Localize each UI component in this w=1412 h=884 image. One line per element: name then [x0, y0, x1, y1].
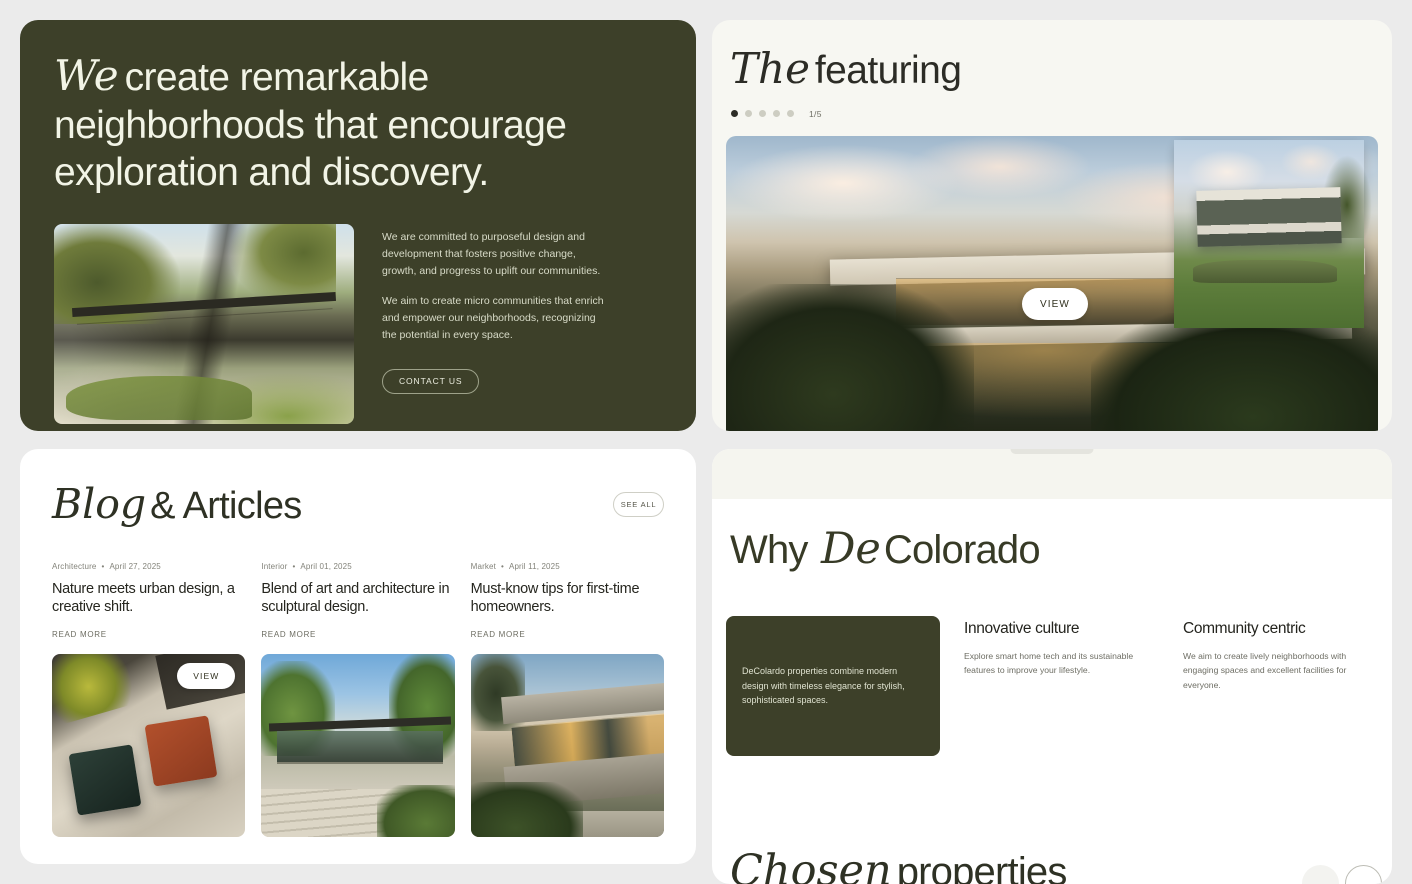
carousel-dot-5[interactable]: [787, 110, 794, 117]
hero-paragraph-2: We aim to create micro communities that …: [382, 293, 604, 344]
featured-panel: Thefeaturing 1/5 VIEW: [712, 20, 1392, 431]
why-heading-part-2: Colorado: [884, 528, 1040, 572]
blog-heading-rest: & Articles: [150, 485, 301, 527]
carousel-dot-2[interactable]: [745, 110, 752, 117]
why-heading-part-1: Why: [730, 528, 808, 572]
why-feature-innovative-culture: Innovative culture Explore smart home te…: [964, 616, 1159, 756]
carousel-dot-1[interactable]: [731, 110, 738, 117]
carousel-prev-button[interactable]: [1302, 865, 1339, 884]
carousel-next-button[interactable]: [1345, 865, 1382, 884]
why-heading-script: De: [818, 524, 884, 574]
why-feature-body: Explore smart home tech and its sustaina…: [964, 649, 1159, 678]
panel-drag-handle[interactable]: [1011, 449, 1094, 454]
list-item[interactable]: Architecture•April 27, 2025 Nature meets…: [52, 562, 245, 837]
blog-heading-script: Blog: [52, 480, 150, 528]
article-meta: Interior•April 01, 2025: [261, 562, 454, 571]
featured-heading: Thefeaturing: [712, 46, 1392, 93]
meta-separator: •: [287, 562, 300, 571]
hero-image: [54, 224, 354, 424]
carousel-dot-4[interactable]: [773, 110, 780, 117]
why-panel: Why DeColorado DeColardo properties comb…: [712, 449, 1392, 884]
article-image: VIEW: [52, 654, 245, 837]
carousel-pagination[interactable]: 1/5: [712, 93, 1392, 131]
carousel-nav[interactable]: [1302, 865, 1382, 884]
carousel-dot-3[interactable]: [759, 110, 766, 117]
panel-tint-strip: [712, 449, 1392, 499]
article-date: April 27, 2025: [109, 562, 160, 571]
hero-heading-rest: create remarkable neighborhoods that enc…: [54, 56, 566, 194]
why-feature-title: Community centric: [1183, 620, 1378, 638]
why-columns: DeColardo properties combine modern desi…: [726, 616, 1378, 756]
hero-body: We are committed to purposeful design an…: [54, 224, 662, 424]
chosen-properties-heading: Chosenproperties: [730, 846, 1067, 884]
meta-separator: •: [496, 562, 509, 571]
article-image: [471, 654, 664, 837]
why-promo-card: DeColardo properties combine modern desi…: [726, 616, 940, 756]
read-more-link[interactable]: READ MORE: [261, 630, 316, 639]
featured-heading-rest: featuring: [815, 49, 961, 92]
why-promo-text: DeColardo properties combine modern desi…: [742, 664, 924, 708]
blog-header: Blog& Articles SEE ALL: [52, 483, 664, 527]
article-title: Must-know tips for first-time homeowners…: [471, 580, 664, 617]
article-date: April 01, 2025: [300, 562, 351, 571]
article-title: Nature meets urban design, a creative sh…: [52, 580, 245, 617]
hero-copy: We are committed to purposeful design an…: [382, 224, 604, 424]
article-category: Interior: [261, 562, 287, 571]
list-item[interactable]: Interior•April 01, 2025 Blend of art and…: [261, 562, 454, 837]
property-card[interactable]: 4 bd 3 ba 1000 sqft Serenity Shores $300…: [1174, 140, 1364, 328]
article-category: Architecture: [52, 562, 96, 571]
list-item[interactable]: Market•April 11, 2025 Must-know tips for…: [471, 562, 664, 837]
hero-heading-script: We: [54, 51, 125, 100]
meta-separator: •: [96, 562, 109, 571]
article-title: Blend of art and architecture in sculptu…: [261, 580, 454, 617]
why-feature-body: We aim to create lively neighborhoods wi…: [1183, 649, 1378, 692]
hero-heading: Wecreate remarkable neighborhoods that e…: [54, 50, 662, 197]
hero-paragraph-1: We are committed to purposeful design an…: [382, 229, 604, 280]
hero-panel: Wecreate remarkable neighborhoods that e…: [20, 20, 696, 431]
article-view-button[interactable]: VIEW: [177, 663, 235, 689]
property-thumbnail: [1181, 147, 1357, 269]
article-meta: Market•April 11, 2025: [471, 562, 664, 571]
page-canvas: Wecreate remarkable neighborhoods that e…: [0, 0, 1412, 884]
why-feature-title: Innovative culture: [964, 620, 1159, 638]
article-meta: Architecture•April 27, 2025: [52, 562, 245, 571]
article-date: April 11, 2025: [509, 562, 560, 571]
article-image: [261, 654, 454, 837]
contact-us-button[interactable]: CONTACT US: [382, 369, 479, 394]
article-category: Market: [471, 562, 496, 571]
read-more-link[interactable]: READ MORE: [471, 630, 526, 639]
blog-heading: Blog& Articles: [52, 483, 302, 527]
read-more-link[interactable]: READ MORE: [52, 630, 107, 639]
why-heading: Why DeColorado: [730, 527, 1040, 572]
see-all-button[interactable]: SEE ALL: [613, 492, 664, 517]
featured-heading-script: The: [730, 44, 815, 93]
blog-panel: Blog& Articles SEE ALL Architecture•Apri…: [20, 449, 696, 864]
why-feature-community-centric: Community centric We aim to create livel…: [1183, 616, 1378, 756]
carousel-counter: 1/5: [809, 109, 822, 119]
chosen-heading-rest: properties: [897, 850, 1067, 884]
chosen-heading-script: Chosen: [730, 846, 897, 884]
featured-view-button[interactable]: VIEW: [1022, 288, 1088, 320]
featured-image: VIEW 4 bd 3 ba 1000 sqft Serenity Shores…: [726, 136, 1378, 431]
article-list: Architecture•April 27, 2025 Nature meets…: [52, 562, 664, 837]
